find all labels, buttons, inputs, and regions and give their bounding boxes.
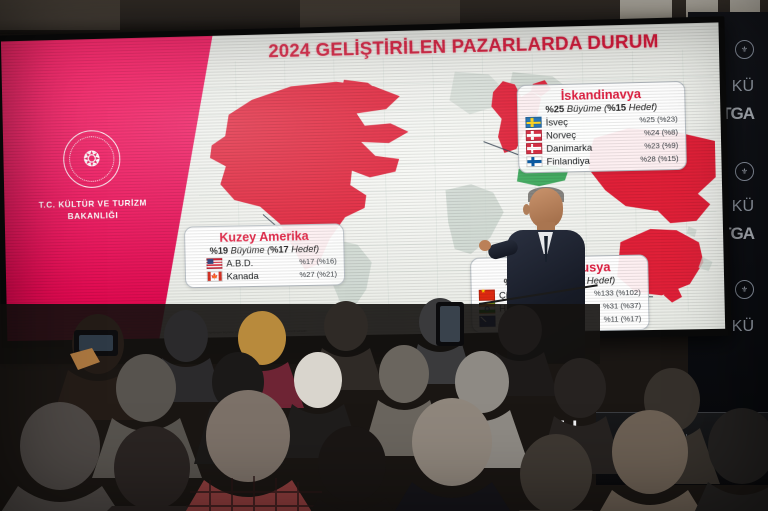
country-value: %17 (%16) [299, 257, 337, 267]
backdrop-partial-text: LI [560, 418, 578, 440]
callout-title: Kuzey Amerika [192, 228, 336, 245]
lectern-ministry-line2: BAKANLIĞI [632, 458, 676, 463]
ministry-logo: ❂ T.C. KÜLTÜR VE TURİZM BAKANLIĞI [22, 129, 162, 224]
backdrop-seal-icon: ⚜ [735, 40, 754, 59]
china-flag-icon [479, 289, 495, 301]
lectern-ministry-logo: ⚜ T.C. KÜLTÜR VE TURİZM BAKANLIĞI [632, 431, 676, 463]
callout-summary: %19 Büyüme (%17 Hedef) [192, 244, 336, 257]
lectern-tga-logo: TGA TÜRKİYE TURİZM TANITIM VE GELİŞTİRME… [697, 437, 768, 457]
presenter-ear [523, 204, 530, 215]
target-label: Hedef [629, 102, 654, 113]
tga-subtitle: TÜRKİYE TURİZM TANITIM VE GELİŞTİRME AJA… [697, 454, 768, 457]
growth-label: Büyüme [231, 245, 265, 256]
target-label: Hedef [291, 244, 316, 254]
ceiling-panel [0, 0, 120, 30]
norway-flag-icon [526, 130, 542, 142]
callout-iskandinavya[interactable]: İskandinavya %25 Büyüme (%15 Hedef) İsve… [517, 81, 687, 174]
finland-flag-icon [526, 156, 542, 168]
lectern: ⚜ T.C. KÜLTÜR VE TURİZM BAKANLIĞI TGA TÜ… [596, 412, 768, 485]
callout-row: 🍁 Kanada %27 (%21) [193, 268, 337, 282]
country-name: A.B.D. [226, 257, 294, 269]
led-screen-surface: ❂ T.C. KÜLTÜR VE TURİZM BAKANLIĞI 2024 G… [1, 22, 725, 341]
target-value: %15 [607, 103, 626, 114]
slide-page-number: 7 [127, 328, 131, 335]
denmark-flag-icon [526, 143, 542, 155]
canada-flag-icon: 🍁 [207, 271, 223, 283]
backdrop-seal-icon: ⚜ [735, 162, 754, 181]
country-value: %11 (%17) [604, 314, 642, 324]
ministry-seal-icon: ❂ [63, 130, 121, 189]
ministry-seal-icon: ⚜ [645, 431, 663, 449]
press-conference-scene: ⚜ T.C. KÜ TGA ⚜ T.C. KÜ TGA ⚜ T.C. KÜ [0, 0, 768, 511]
country-name: Kanada [226, 269, 294, 281]
callout-kuzey-amerika[interactable]: Kuzey Amerika %19 Büyüme (%17 Hedef) A.B… [184, 223, 345, 288]
growth-value: %19 [210, 246, 229, 256]
target-value: %17 [270, 245, 289, 255]
usa-flag-icon [206, 258, 222, 270]
country-name: Finlandiya [546, 154, 635, 167]
slide-footnote: Ülke satırlarında gerçekleşen büyüme, pa… [182, 329, 331, 336]
country-value: %23 (%9) [644, 141, 678, 151]
country-value: %28 (%15) [640, 154, 678, 164]
lectern-divider [686, 434, 687, 460]
presenter [505, 188, 591, 363]
country-name: Norveç [546, 128, 639, 141]
country-name: Danimarka [546, 141, 639, 154]
tga-wordmark: TGA [697, 437, 768, 452]
country-value: %27 (%21) [299, 270, 337, 280]
lectern-ministry-line1: T.C. KÜLTÜR VE TURİZM [632, 451, 676, 456]
backdrop-seal-icon: ⚜ [735, 280, 754, 299]
presentation-slide: ❂ T.C. KÜLTÜR VE TURİZM BAKANLIĞI 2024 G… [1, 22, 725, 341]
presenter-hand [479, 240, 491, 251]
sweden-flag-icon [525, 117, 541, 129]
growth-label: Büyüme [567, 104, 602, 115]
callout-row: A.B.D. %17 (%16) [193, 255, 337, 269]
country-name: İsveç [546, 115, 635, 128]
australia-flag-icon [479, 316, 495, 328]
country-value: %31 (%37) [603, 301, 641, 311]
country-value: %24 (%8) [644, 128, 678, 138]
led-screen: ❂ T.C. KÜLTÜR VE TURİZM BAKANLIĞI 2024 G… [0, 16, 731, 348]
lectern-logos: ⚜ T.C. KÜLTÜR VE TURİZM BAKANLIĞI TGA TÜ… [632, 431, 768, 463]
growth-value: %25 [545, 104, 564, 115]
india-flag-icon [479, 303, 495, 315]
callout-row: Finlandiya %28 (%15) [526, 153, 678, 168]
country-value: %133 (%102) [594, 288, 641, 298]
country-value: %25 (%23) [639, 115, 677, 125]
